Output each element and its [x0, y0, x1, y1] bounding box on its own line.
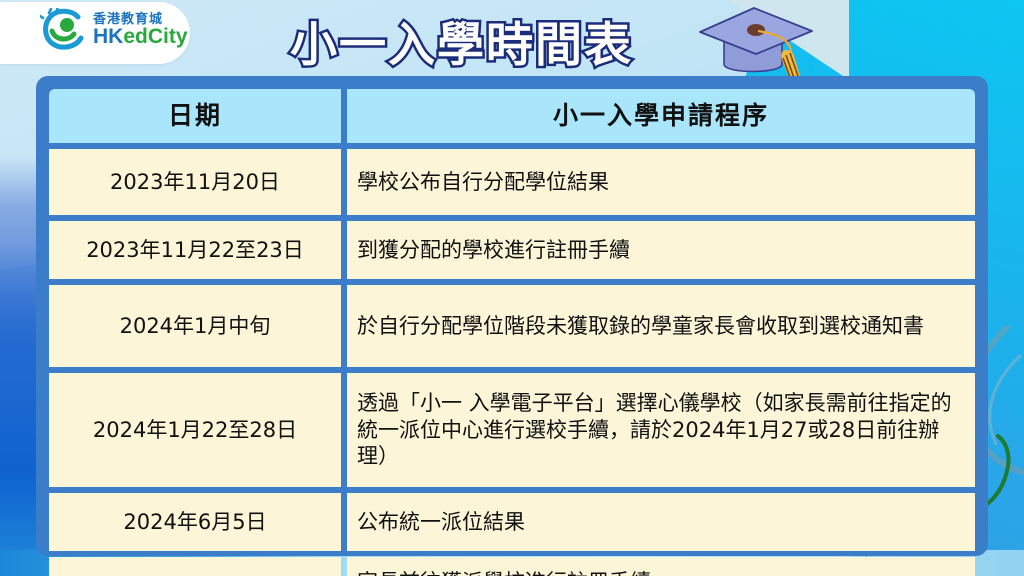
table-row: 2024年6月5日起 家長前往獲派學校進行註冊手續 或向其他心儀學校叩門: [49, 557, 975, 576]
brand-logo: 香港教育城 HKedCity: [40, 8, 188, 52]
brand-logo-ed: ed: [123, 25, 148, 48]
brand-logo-text-en: HKedCity: [93, 26, 188, 48]
cell-date: 2024年6月5日: [49, 493, 341, 551]
graduation-cap-icon: [694, 0, 818, 86]
cell-date: 2024年6月5日起: [49, 557, 341, 576]
brand-logo-text: 香港教育城 HKedCity: [93, 12, 188, 48]
table-row: 2024年1月中旬 於自行分配學位階段未獲取錄的學童家長會收取到選校通知書: [49, 285, 975, 367]
table-row: 2023年11月22至23日 到獲分配的學校進行註冊手續: [49, 221, 975, 279]
column-header-procedure: 小一入學申請程序: [347, 89, 975, 143]
brand-logo-city: City: [148, 25, 188, 48]
cell-date: 2024年1月中旬: [49, 285, 341, 367]
cell-procedure: 學校公布自行分配學位結果: [347, 149, 975, 215]
cell-procedure: 透過「小一 入學電子平台」選擇心儀學校（如家長需前往指定的統一派位中心進行選校手…: [347, 373, 975, 487]
schedule-table-container: 日期 小一入學申請程序 2023年11月20日 學校公布自行分配學位結果 202…: [36, 76, 988, 556]
cell-procedure: 家長前往獲派學校進行註冊手續 或向其他心儀學校叩門: [347, 557, 975, 576]
hkedcity-circle-logo-icon: [40, 8, 86, 52]
column-header-date: 日期: [49, 89, 341, 143]
cell-procedure: 到獲分配的學校進行註冊手續: [347, 221, 975, 279]
cell-date: 2023年11月20日: [49, 149, 341, 215]
table-row: 2023年11月20日 學校公布自行分配學位結果: [49, 149, 975, 215]
cell-procedure: 公布統一派位結果: [347, 493, 975, 551]
slide-canvas: 香港教育城 HKedCity 小一入學時間表: [0, 0, 1024, 576]
schedule-table: 日期 小一入學申請程序 2023年11月20日 學校公布自行分配學位結果 202…: [43, 83, 981, 576]
table-row: 2024年1月22至28日 透過「小一 入學電子平台」選擇心儀學校（如家長需前往…: [49, 373, 975, 487]
cell-date: 2024年1月22至28日: [49, 373, 341, 487]
table-header-row: 日期 小一入學申請程序: [49, 89, 975, 143]
cell-date: 2023年11月22至23日: [49, 221, 341, 279]
table-row: 2024年6月5日 公布統一派位結果: [49, 493, 975, 551]
cell-procedure: 於自行分配學位階段未獲取錄的學童家長會收取到選校通知書: [347, 285, 975, 367]
brand-logo-hk: HK: [93, 25, 123, 48]
page-title: 小一入學時間表: [290, 6, 633, 75]
brand-logo-text-zh: 香港教育城: [93, 12, 188, 26]
